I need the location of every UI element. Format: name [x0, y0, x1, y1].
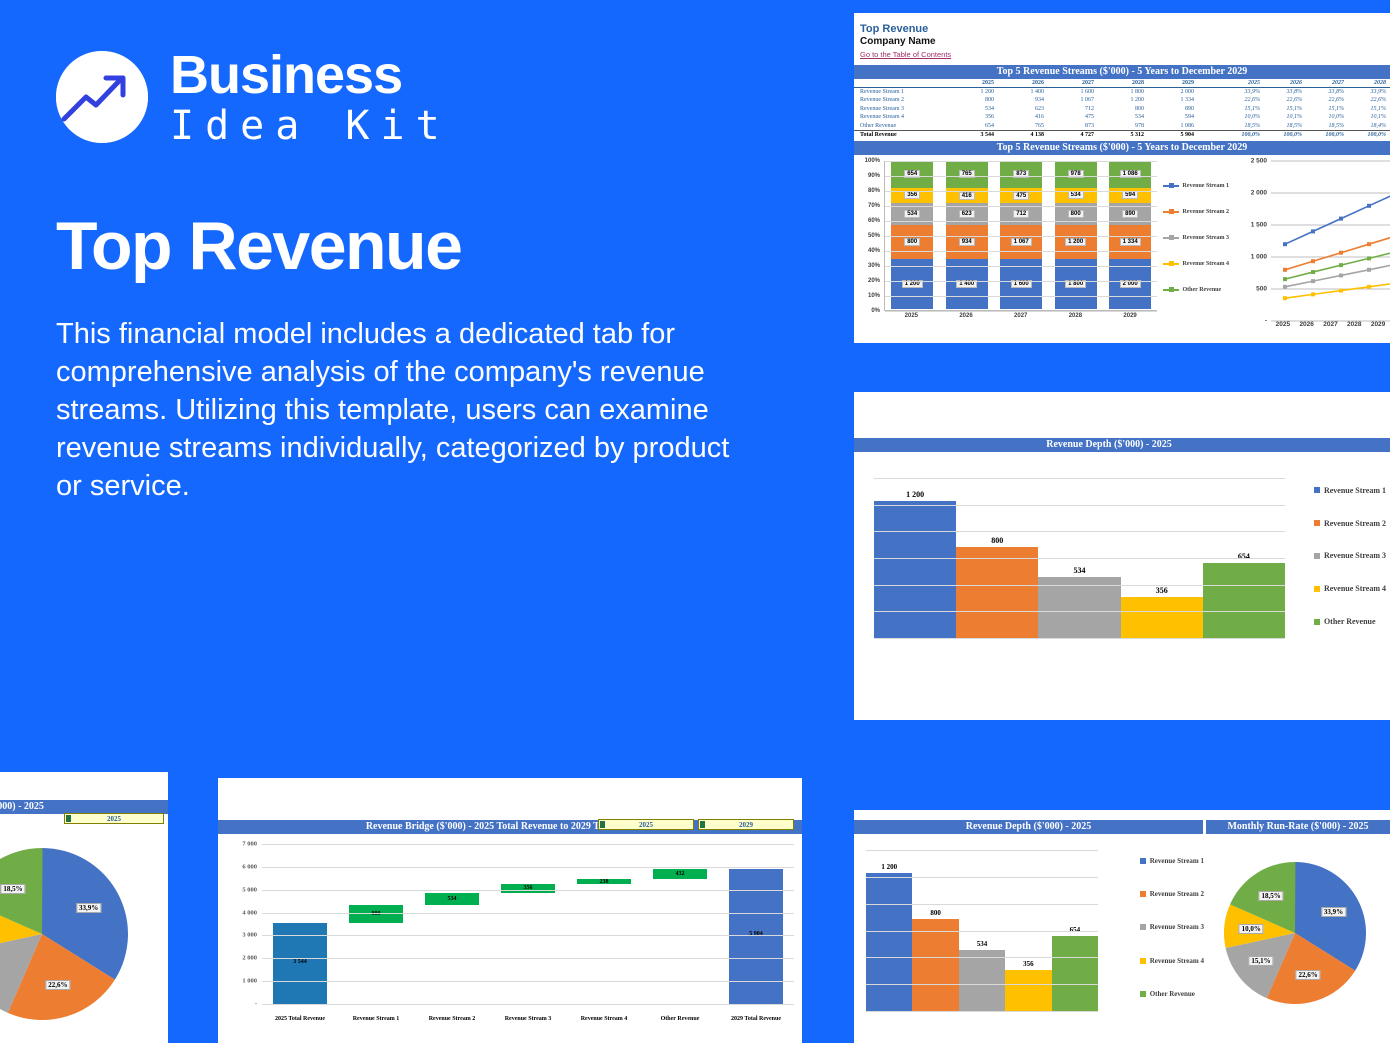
- sheet-tab-title: Top Revenue: [860, 23, 1390, 35]
- bar-value-label: 534: [904, 210, 920, 218]
- col-year-2029: 2029: [1148, 79, 1198, 88]
- legend-item: Other Revenue: [1163, 277, 1239, 303]
- table-row: Other Revenue 654 765 873 978 1 086 18,5…: [854, 122, 1390, 131]
- line-chart: -5001 0001 5002 0002 500 202520262027202…: [1239, 155, 1390, 337]
- revenue-depth-panel-bottom: Revenue Depth ($'000) - 2025 Monthly Run…: [854, 810, 1390, 1043]
- legend-marker: [1140, 958, 1146, 964]
- y-tick: 40%: [868, 248, 880, 254]
- waterfall-block: 432: [653, 869, 708, 879]
- brand-line-1: Business: [170, 48, 451, 102]
- legend-marker: [1163, 263, 1179, 265]
- page-title: Top Revenue: [56, 212, 816, 280]
- x-tick: 2028: [1054, 313, 1096, 319]
- bar-segment: 978: [1055, 161, 1097, 188]
- bar-segment: 1 334: [1109, 225, 1151, 259]
- legend-label: Other Revenue: [1182, 287, 1221, 293]
- x-tick: 2027: [1319, 321, 1343, 328]
- revenue-depth-title: Revenue Depth ($'000) - 2025: [854, 820, 1203, 834]
- bar-value-label: 654: [904, 170, 920, 178]
- monthly-run-rate-pie: 33,9%22,6%18,5%: [0, 848, 128, 1020]
- legend-marker: [1163, 237, 1179, 239]
- pctcol-2025: 2025: [1222, 79, 1264, 88]
- waterfall-value-label: 432: [653, 871, 708, 877]
- bar-segment: 1 600: [1000, 259, 1042, 309]
- bar: 1 200: [866, 873, 912, 1011]
- y-tick: 500: [1256, 285, 1267, 292]
- legend-item: Revenue Stream 2: [1140, 890, 1204, 898]
- revenue-streams-table: 2025 2026 2027 2028 2029 2025 2026 2027 …: [854, 79, 1390, 139]
- legend-item: Other Revenue: [1140, 990, 1204, 998]
- bar-segment: 654: [891, 161, 933, 188]
- legend-label: Revenue Stream 2: [1182, 209, 1229, 215]
- y-tick: 20%: [868, 278, 880, 284]
- y-tick: 90%: [868, 173, 880, 179]
- legend-marker: [1140, 858, 1146, 864]
- legend-marker: [1163, 185, 1179, 187]
- bar-segment: 1 086: [1109, 161, 1151, 188]
- x-tick: 2028: [1342, 321, 1366, 328]
- waterfall-value-label: 3 544: [273, 959, 328, 965]
- bar-value-label: 594: [1122, 191, 1138, 199]
- bar-segment: 873: [1000, 161, 1042, 189]
- stacked-chart-legend: Revenue Stream 1Revenue Stream 2Revenue …: [1163, 155, 1239, 337]
- bar: 534: [959, 950, 1005, 1011]
- bar: 356: [1121, 597, 1203, 638]
- legend-label: Revenue Stream 1: [1324, 486, 1386, 495]
- spreadsheet-panel-top: Top Revenue Company Name Go to the Table…: [854, 13, 1390, 343]
- chart-title-banner: Top 5 Revenue Streams ($'000) - 5 Years …: [854, 141, 1390, 155]
- y-tick: 2 000: [242, 955, 257, 962]
- pctcol-2027: 2027: [1306, 79, 1348, 88]
- bar-value-label: 712: [1013, 210, 1029, 218]
- stacked-bar-chart: 0%10%20%30%40%50%60%70%80%90%100% 654356…: [854, 155, 1390, 337]
- year-selector-2025[interactable]: 2025: [598, 819, 694, 830]
- revenue-depth-chart: 1 200800534356654 Revenue Stream 1Revenu…: [854, 834, 1206, 1029]
- pctcol-2026: 2026: [1264, 79, 1306, 88]
- bar-value-label: 1 200: [1065, 238, 1086, 246]
- waterfall-column: 238: [566, 844, 642, 1004]
- x-tick: 2026: [945, 313, 987, 319]
- legend-label: Revenue Stream 4: [1324, 584, 1386, 593]
- bar: 800: [956, 547, 1038, 638]
- waterfall-column: 5 904: [718, 844, 794, 1004]
- legend-marker: [1314, 487, 1320, 493]
- pctcol-2028: 2028: [1348, 79, 1390, 88]
- y-tick: 0%: [871, 308, 880, 314]
- pie-value-label: 22,6%: [45, 980, 70, 990]
- x-tick: 2029 Total Revenue: [718, 1016, 794, 1022]
- y-tick: -: [255, 1001, 257, 1008]
- pie-value-label: 18,5%: [0, 884, 25, 894]
- waterfall-column: 3 544: [262, 844, 338, 1004]
- x-tick: Revenue Stream 3: [490, 1016, 566, 1022]
- pie-value-label: 10,0%: [1239, 924, 1264, 934]
- legend-item: Revenue Stream 1: [1163, 173, 1239, 199]
- hero-section: Business Idea Kit Top Revenue This finan…: [56, 48, 816, 506]
- bar: 800: [912, 919, 958, 1011]
- bar-value-label: 534: [1038, 566, 1120, 575]
- legend-marker: [1314, 553, 1320, 559]
- bar-value-label: 765: [959, 170, 975, 178]
- pie-value-label: 22,6%: [1295, 970, 1320, 980]
- y-tick: -: [1265, 317, 1267, 324]
- monthly-run-rate-chart: 33,9%22,6%15,1%10,0%18,5%: [1206, 834, 1387, 1029]
- col-year-2025: 2025: [948, 79, 998, 88]
- waterfall-chart: -1 0002 0003 0004 0005 0006 0007 000 3 5…: [218, 840, 802, 1030]
- revenue-depth-legend: Revenue Stream 1Revenue Stream 2Revenue …: [1140, 844, 1204, 1011]
- stacked-plot-area: 0%10%20%30%40%50%60%70%80%90%100% 654356…: [854, 155, 1163, 337]
- legend-marker: [1314, 520, 1320, 526]
- legend-item: Other Revenue: [1314, 617, 1386, 626]
- year-selector-2029[interactable]: 2029: [698, 819, 794, 830]
- bar-value-label: 623: [959, 210, 975, 218]
- bar-segment: 2 000: [1109, 259, 1151, 309]
- revenue-depth-plot: 1 200800534356654: [874, 478, 1285, 638]
- bar-segment: 800: [891, 225, 933, 259]
- x-tick: 2026: [1295, 321, 1319, 328]
- waterfall-column: 432: [642, 844, 718, 1004]
- stacked-y-axis: 0%10%20%30%40%50%60%70%80%90%100%: [856, 161, 882, 311]
- waterfall-column: 534: [414, 844, 490, 1004]
- waterfall-value-label: 534: [425, 896, 480, 902]
- bar-value-label: 800: [912, 909, 958, 917]
- y-tick: 100%: [865, 158, 880, 164]
- bar-segment: 1 200: [1055, 225, 1097, 259]
- legend-item: Revenue Stream 3: [1163, 225, 1239, 251]
- waterfall-block: 800: [349, 905, 404, 923]
- monthly-run-rate-title: Run-Rate ($'000) - 2025: [0, 800, 168, 814]
- bar-value-label: 800: [956, 536, 1038, 545]
- pie-value-label: 33,9%: [76, 903, 101, 913]
- bottom-titles-row: Revenue Depth ($'000) - 2025 Monthly Run…: [854, 820, 1390, 834]
- bar-segment: 1 800: [1055, 259, 1097, 309]
- revenue-depth-title-row: Revenue Depth ($'000) - 2025: [854, 438, 1390, 452]
- y-tick: 6 000: [242, 863, 257, 870]
- bar-segment: 934: [946, 225, 988, 259]
- pie-value-label: 33,9%: [1321, 907, 1346, 917]
- bar-value-label: 978: [1068, 170, 1084, 178]
- table-of-contents-link[interactable]: Go to the Table of Contents: [860, 50, 1390, 59]
- bar-segment: 1 200: [891, 259, 933, 309]
- bar-segment: 765: [946, 161, 988, 189]
- table-row: Revenue Stream 1 1 200 1 400 1 600 1 800…: [854, 88, 1390, 97]
- x-tick: Revenue Stream 4: [566, 1016, 642, 1022]
- bar-value-label: 534: [1068, 191, 1084, 199]
- revenue-depth-plot: 1 200800534356654: [866, 850, 1098, 1011]
- waterfall-plot: 3 5448005343562384325 904: [262, 844, 794, 1004]
- x-tick: 2029: [1366, 321, 1390, 328]
- x-tick: 2025 Total Revenue: [262, 1016, 338, 1022]
- waterfall-block: 534: [425, 893, 480, 905]
- pie-value-label: 18,5%: [1258, 891, 1283, 901]
- line-y-axis: -5001 0001 5002 0002 500: [1239, 161, 1269, 321]
- legend-label: Revenue Stream 1: [1182, 183, 1229, 189]
- stacked-plot: 6543565348001 2007654166239341 400873475…: [884, 161, 1157, 311]
- bar-value-label: 356: [1005, 960, 1051, 968]
- monthly-run-rate-title: Monthly Run-Rate ($'000) - 2025: [1206, 820, 1390, 834]
- legend-marker: [1140, 891, 1146, 897]
- bar-value-label: 654: [1203, 552, 1285, 561]
- y-tick: 2 000: [1251, 189, 1267, 196]
- revenue-depth-title: Revenue Depth ($'000) - 2025: [854, 438, 1364, 452]
- x-tick: 2025: [890, 313, 932, 319]
- sheet-header: Top Revenue Company Name Go to the Table…: [854, 13, 1390, 59]
- revenue-bridge-panel: Revenue Bridge ($'000) - 2025 Total Reve…: [218, 778, 802, 1043]
- legend-label: Revenue Stream 3: [1150, 923, 1204, 931]
- revenue-depth-chart: 1 200800534356654 Revenue Stream 1Revenu…: [854, 460, 1390, 660]
- legend-item: Revenue Stream 2: [1314, 519, 1386, 528]
- company-name: Company Name: [860, 36, 1390, 47]
- legend-marker: [1314, 586, 1320, 592]
- x-tick: 2025: [1271, 321, 1295, 328]
- year-selectors: 2025 2029: [598, 819, 794, 830]
- pie-value-label: 15,1%: [1248, 956, 1273, 966]
- y-tick: 5 000: [242, 886, 257, 893]
- bar: 654: [1203, 563, 1285, 638]
- legend-marker: [1163, 211, 1179, 213]
- col-year-2027: 2027: [1048, 79, 1098, 88]
- legend-item: Revenue Stream 1: [1314, 486, 1386, 495]
- waterfall-block: 238: [577, 879, 632, 884]
- legend-marker: [1140, 924, 1146, 930]
- y-tick: 2 500: [1251, 157, 1267, 164]
- monthly-run-rate-title-row: Run-Rate ($'000) - 2025: [0, 800, 168, 814]
- legend-label: Revenue Stream 2: [1324, 519, 1386, 528]
- legend-marker: [1314, 619, 1320, 625]
- monthly-run-rate-panel-left: Run-Rate ($'000) - 2025 2025 33,9%22,6%1…: [0, 772, 168, 1043]
- y-tick: 80%: [868, 188, 880, 194]
- bottom-charts-row: 1 200800534356654 Revenue Stream 1Revenu…: [854, 834, 1390, 1029]
- legend-marker: [1140, 991, 1146, 997]
- bar: 534: [1038, 577, 1120, 638]
- waterfall-block: 356: [501, 884, 556, 892]
- waterfall-x-axis: 2025 Total RevenueRevenue Stream 1Revenu…: [262, 1016, 794, 1022]
- bar: 654: [1052, 936, 1098, 1011]
- waterfall-column: 356: [490, 844, 566, 1004]
- monthly-run-rate-pie: 33,9%22,6%15,1%10,0%18,5%: [1224, 862, 1366, 1004]
- bar-segment: 1 400: [946, 259, 988, 309]
- bar-value-label: 800: [904, 238, 920, 246]
- bar: 1 200: [874, 501, 956, 638]
- y-tick: 1 500: [1251, 221, 1267, 228]
- bar-value-label: 1 067: [1011, 238, 1032, 246]
- bar-value-label: 416: [959, 192, 975, 200]
- bar-value-label: 1 334: [1120, 238, 1141, 246]
- legend-label: Revenue Stream 3: [1324, 551, 1386, 560]
- bar-value-label: 475: [1013, 192, 1029, 200]
- x-tick: Other Revenue: [642, 1016, 718, 1022]
- bar-value-label: 800: [1068, 210, 1084, 218]
- x-tick: 2029: [1109, 313, 1151, 319]
- bar-segment: 1 067: [1000, 225, 1042, 259]
- waterfall-column: 800: [338, 844, 414, 1004]
- bar-value-label: 356: [904, 191, 920, 199]
- y-tick: 10%: [868, 293, 880, 299]
- bar-value-label: 1 200: [866, 863, 912, 871]
- section-title-banner: Top 5 Revenue Streams ($'000) - 5 Years …: [854, 65, 1390, 79]
- col-year-2028: 2028: [1098, 79, 1148, 88]
- table-total-row: Total Revenue 3 544 4 138 4 727 5 312 5 …: [854, 130, 1390, 139]
- financial-table-wrapper: Top 5 Revenue Streams ($'000) - 5 Years …: [854, 65, 1390, 155]
- legend-item: Revenue Stream 2: [1163, 199, 1239, 225]
- legend-label: Other Revenue: [1324, 617, 1376, 626]
- legend-marker: [1163, 289, 1179, 291]
- revenue-depth-legend: Revenue Stream 1Revenue Stream 2Revenue …: [1314, 474, 1386, 638]
- y-tick: 7 000: [242, 841, 257, 848]
- waterfall-value-label: 238: [577, 879, 632, 885]
- y-tick: 3 000: [242, 932, 257, 939]
- bar-value-label: 534: [959, 940, 1005, 948]
- bar-value-label: 1 200: [874, 490, 956, 499]
- legend-label: Revenue Stream 2: [1150, 890, 1204, 898]
- legend-item: Revenue Stream 4: [1314, 584, 1386, 593]
- bar-value-label: 890: [1122, 210, 1138, 218]
- y-tick: 60%: [868, 218, 880, 224]
- title-banner-stub: [1364, 438, 1390, 452]
- legend-label: Revenue Stream 4: [1182, 261, 1229, 267]
- bar-value-label: 934: [959, 238, 975, 246]
- line-x-axis: 20252026202720282029: [1271, 321, 1390, 328]
- bar: 356: [1005, 970, 1051, 1011]
- legend-label: Other Revenue: [1150, 990, 1195, 998]
- bar-value-label: 873: [1013, 170, 1029, 178]
- upward-trend-arrow-icon: [56, 51, 148, 143]
- y-tick: 4 000: [242, 909, 257, 916]
- y-tick: 1 000: [242, 978, 257, 985]
- x-tick: Revenue Stream 2: [414, 1016, 490, 1022]
- revenue-depth-panel: Revenue Depth ($'000) - 2025 1 200800534…: [854, 392, 1390, 720]
- line-plot: [1271, 161, 1390, 321]
- x-tick: 2027: [1000, 313, 1042, 319]
- legend-item: Revenue Stream 4: [1163, 251, 1239, 277]
- legend-item: Revenue Stream 3: [1140, 923, 1204, 931]
- legend-item: Revenue Stream 4: [1140, 957, 1204, 965]
- revenue-bridge-title-row: Revenue Bridge ($'000) - 2025 Total Reve…: [218, 820, 802, 834]
- brand-logo: Business Idea Kit: [56, 48, 816, 146]
- brand-wordmark: Business Idea Kit: [170, 48, 451, 146]
- y-tick: 70%: [868, 203, 880, 209]
- y-tick: 1 000: [1251, 253, 1267, 260]
- x-tick: Revenue Stream 1: [338, 1016, 414, 1022]
- bar-value-label: 1 086: [1120, 170, 1141, 178]
- legend-label: Revenue Stream 3: [1182, 235, 1229, 241]
- y-tick: 50%: [868, 233, 880, 239]
- brand-line-2: Idea Kit: [170, 106, 451, 146]
- bar-value-label: 356: [1121, 586, 1203, 595]
- stacked-x-axis: 20252026202720282029: [884, 313, 1157, 319]
- col-year-2026: 2026: [998, 79, 1048, 88]
- year-selector-2025[interactable]: 2025: [64, 813, 164, 824]
- table-row: Revenue Stream 4 356 416 475 534 594 10,…: [854, 113, 1390, 122]
- legend-label: Revenue Stream 4: [1150, 957, 1204, 965]
- page-description: This financial model includes a dedicate…: [56, 316, 762, 506]
- table-header-row: 2025 2026 2027 2028 2029 2025 2026 2027 …: [854, 79, 1390, 88]
- legend-item: Revenue Stream 3: [1314, 551, 1386, 560]
- table-row: Revenue Stream 2 800 934 1 067 1 200 1 3…: [854, 96, 1390, 105]
- legend-label: Revenue Stream 1: [1150, 857, 1204, 865]
- y-tick: 30%: [868, 263, 880, 269]
- table-row: Revenue Stream 3 534 623 712 800 890 15,…: [854, 105, 1390, 114]
- waterfall-y-axis: -1 0002 0003 0004 0005 0006 0007 000: [218, 844, 260, 1004]
- legend-item: Revenue Stream 1: [1140, 857, 1204, 865]
